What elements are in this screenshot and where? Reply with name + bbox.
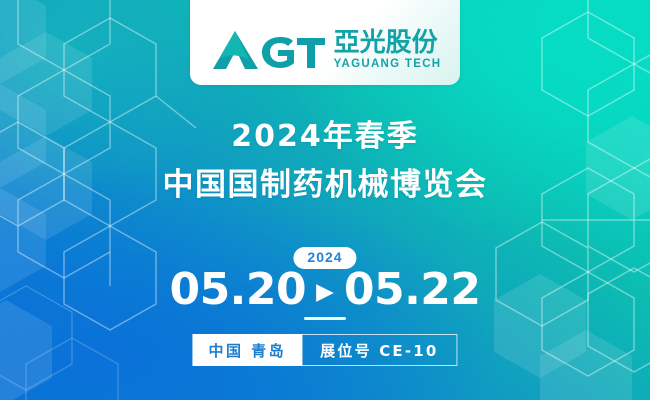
event-date-range: 05.20 ▶ 05.22 [0, 268, 650, 312]
agt-triangle-logo-icon [209, 29, 327, 71]
headline-line-2: 中国国制药机械博览会 [0, 166, 650, 205]
arrow-right-icon: ▶ [316, 280, 334, 303]
brand-logo-lockup: 亞光股份 YAGUANG TECH [209, 29, 442, 71]
brand-wordmark-cn: 亞光股份 [334, 30, 438, 56]
date-end: 05.22 [344, 268, 481, 312]
headline-line-1: 2024年春季 [0, 118, 650, 156]
brand-wordmark: 亞光股份 YAGUANG TECH [334, 30, 442, 71]
venue-label: 中国 青岛 [192, 334, 302, 366]
date-divider-rule [304, 317, 346, 320]
exhibition-banner: 亞光股份 YAGUANG TECH 2024年春季 中国国制药机械博览会 202… [0, 0, 650, 400]
date-start: 05.20 [169, 268, 306, 312]
brand-logo-card: 亞光股份 YAGUANG TECH [190, 0, 460, 85]
event-headline: 2024年春季 中国国制药机械博览会 [0, 118, 650, 204]
venue-booth-bar: 中国 青岛 展位号 CE-10 [192, 334, 457, 366]
brand-wordmark-en: YAGUANG TECH [334, 59, 442, 71]
booth-number-label: 展位号 CE-10 [302, 334, 457, 366]
